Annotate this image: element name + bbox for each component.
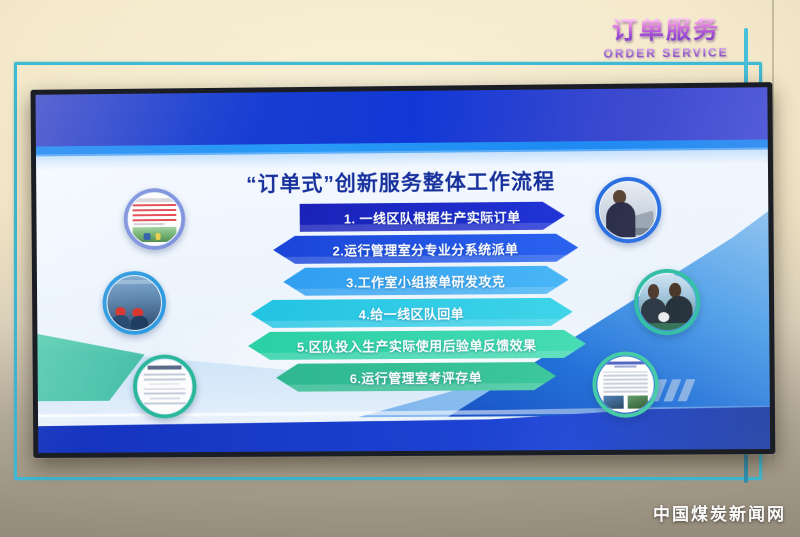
photo-badge-ring xyxy=(634,269,701,336)
workflow-step-5: 5.区队投入生产实际使用后验单反馈效果 xyxy=(248,330,586,360)
wall-sign-english-text: ORDER SERVICE xyxy=(596,45,736,60)
site-watermark: 中国煤炭新闻网 xyxy=(653,500,786,525)
photo-badge-ring xyxy=(595,177,662,244)
photo-badge-report xyxy=(592,351,659,418)
workflow-step-1: 1. 一线区队根据生产实际订单 xyxy=(300,202,565,232)
workflow-step-label: 4.给一线区队回单 xyxy=(359,303,465,323)
workflow-step-label: 2.运行管理室分专业分系统派单 xyxy=(332,239,518,260)
workflow-poster: “订单式”创新服务整体工作流程 1. 一线区队根据生产实际订单2.运行管理室分专… xyxy=(36,87,771,453)
workflow-step-2: 2.运行管理室分专业分系统派单 xyxy=(273,234,578,264)
display-viewport: “订单式”创新服务整体工作流程 1. 一线区队根据生产实际订单2.运行管理室分专… xyxy=(36,87,771,453)
photo-badge-ring xyxy=(123,188,185,250)
workflow-step-label: 3.工作室小组接单研发攻克 xyxy=(346,271,505,291)
photo-badge-engineer xyxy=(595,177,662,244)
wall-display-screen: “订单式”创新服务整体工作流程 1. 一线区队根据生产实际订单2.运行管理室分专… xyxy=(31,82,776,458)
photo-badge-form-document xyxy=(133,354,197,418)
photo-badge-ring xyxy=(102,271,166,335)
photo-badge-workers xyxy=(102,271,166,335)
workflow-step-label: 1. 一线区队根据生产实际订单 xyxy=(344,206,521,227)
photo-badge-record-table xyxy=(123,188,185,250)
wall-sign-chinese-text: 订单服务 xyxy=(596,17,736,43)
photo-badge-ring xyxy=(133,354,197,418)
photo-badge-team xyxy=(634,269,701,336)
room-scene: 订单服务 ORDER SERVICE xyxy=(0,0,800,537)
workflow-step-4: 4.给一线区队回单 xyxy=(251,298,573,328)
workflow-step-label: 6.运行管理室考评存单 xyxy=(350,367,482,387)
photo-badge-ring xyxy=(592,351,659,418)
workflow-step-label: 5.区队投入生产实际使用后验单反馈效果 xyxy=(297,335,537,356)
workflow-step-3: 3.工作室小组接单研发攻克 xyxy=(283,266,568,296)
workflow-step-6: 6.运行管理室考评存单 xyxy=(276,362,556,392)
